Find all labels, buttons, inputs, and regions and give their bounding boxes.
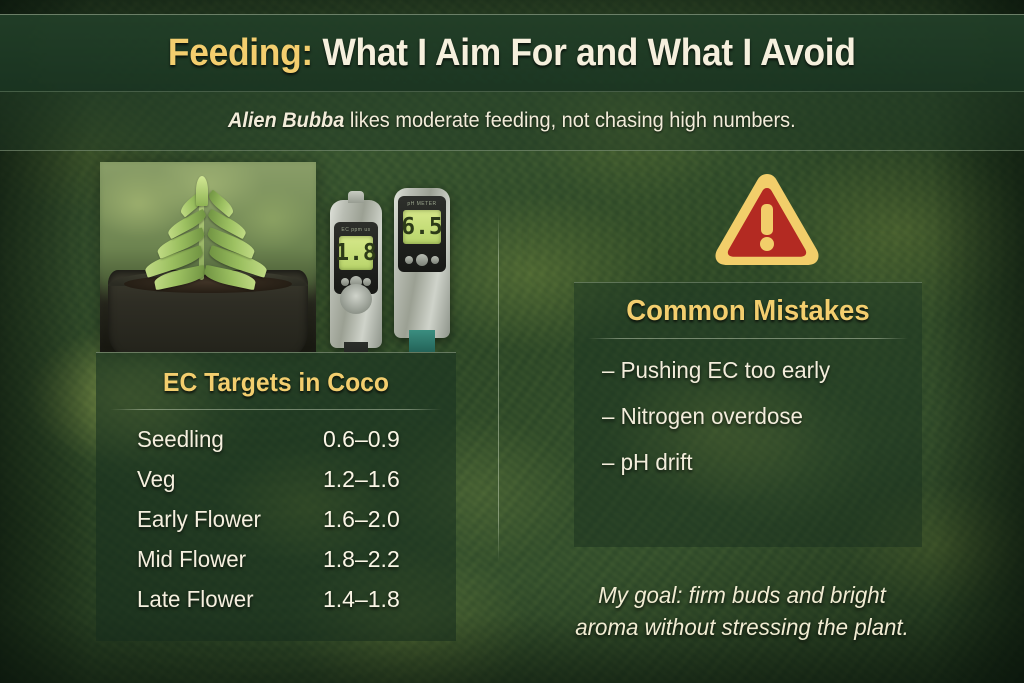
plant-pot (108, 270, 308, 352)
meters-photo: EC ppm us 1.8 pH METER 6.5 (316, 178, 466, 352)
mistake-list-item: – Nitrogen overdose (602, 403, 912, 449)
warning-triangle-icon (712, 168, 822, 268)
ec-range-value: 0.6–0.9 (323, 426, 400, 453)
ec-table-row: Late Flower1.4–1.8 (137, 586, 456, 626)
ec-range-value: 1.2–1.6 (323, 466, 400, 493)
ph-meter-button (431, 256, 439, 264)
ph-meter-button (405, 256, 413, 264)
ec-range-value: 1.8–2.2 (323, 546, 400, 573)
ec-stage-label: Late Flower (137, 586, 317, 613)
subtitle-rest: likes moderate feeding, not chasing high… (345, 109, 796, 132)
mistake-list-item: – pH drift (602, 449, 912, 495)
ec-targets-panel: EC Targets in Coco Seedling0.6–0.9Veg1.2… (96, 352, 456, 641)
mistakes-panel-title: Common Mistakes (583, 283, 914, 326)
ec-stage-label: Seedling (137, 426, 317, 453)
ph-meter-button (416, 254, 428, 266)
ec-meter-probe (344, 342, 368, 352)
ec-meter: EC ppm us 1.8 (330, 200, 382, 348)
plant-apex-leaf (196, 176, 208, 206)
ec-meter-dial (340, 284, 372, 314)
ec-stage-label: Mid Flower (137, 546, 317, 573)
plant-photo (100, 162, 316, 352)
column-divider (498, 214, 499, 562)
ec-meter-lcd: 1.8 (339, 236, 373, 270)
ec-meter-reading: 1.8 (335, 242, 377, 265)
ph-meter: pH METER 6.5 (394, 188, 450, 338)
ec-range-value: 1.6–2.0 (323, 506, 400, 533)
subtitle: Alien Bubba likes moderate feeding, not … (228, 109, 796, 133)
goal-line-1: My goal: firm buds and bright (515, 580, 969, 612)
infographic-slide: Feeding: What I Aim For and What I Avoid… (0, 0, 1024, 683)
ph-meter-face: pH METER 6.5 (398, 196, 446, 272)
ph-meter-probe (409, 330, 435, 352)
ec-meter-button (363, 278, 371, 286)
ec-panel-title: EC Targets in Coco (105, 353, 447, 395)
page-title-rest: What I Aim For and What I Avoid (313, 32, 856, 74)
page-title-highlight: Feeding: (168, 32, 313, 74)
ec-table-row: Mid Flower1.8–2.2 (137, 546, 456, 586)
ph-meter-reading: 6.5 (401, 216, 443, 239)
subtitle-strain-name: Alien Bubba (228, 109, 344, 132)
ec-panel-divider (110, 409, 442, 410)
ec-stage-label: Early Flower (137, 506, 317, 533)
goal-statement: My goal: firm buds and bright aroma with… (515, 580, 969, 643)
page-title: Feeding: What I Aim For and What I Avoid (168, 32, 856, 75)
mistakes-panel-divider (588, 338, 908, 339)
ec-table-row: Veg1.2–1.6 (137, 466, 456, 506)
ec-table-row: Seedling0.6–0.9 (137, 426, 456, 466)
ph-meter-screen-label: pH METER (404, 201, 440, 207)
common-mistakes-list: – Pushing EC too early– Nitrogen overdos… (574, 357, 922, 495)
ec-targets-table: Seedling0.6–0.9Veg1.2–1.6Early Flower1.6… (96, 426, 456, 626)
mistake-list-item: – Pushing EC too early (602, 357, 912, 403)
ec-range-value: 1.4–1.8 (323, 586, 400, 613)
goal-line-2: aroma without stressing the plant. (515, 612, 969, 644)
ec-meter-screen-label: EC ppm us (340, 227, 372, 233)
common-mistakes-panel: Common Mistakes – Pushing EC too early– … (574, 282, 922, 547)
header-band: Feeding: What I Aim For and What I Avoid (0, 14, 1024, 92)
ec-table-row: Early Flower1.6–2.0 (137, 506, 456, 546)
subtitle-band: Alien Bubba likes moderate feeding, not … (0, 91, 1024, 151)
ec-stage-label: Veg (137, 466, 317, 493)
ec-meter-cap (348, 191, 364, 203)
ph-meter-buttons (404, 253, 440, 267)
ph-meter-lcd: 6.5 (403, 210, 441, 244)
